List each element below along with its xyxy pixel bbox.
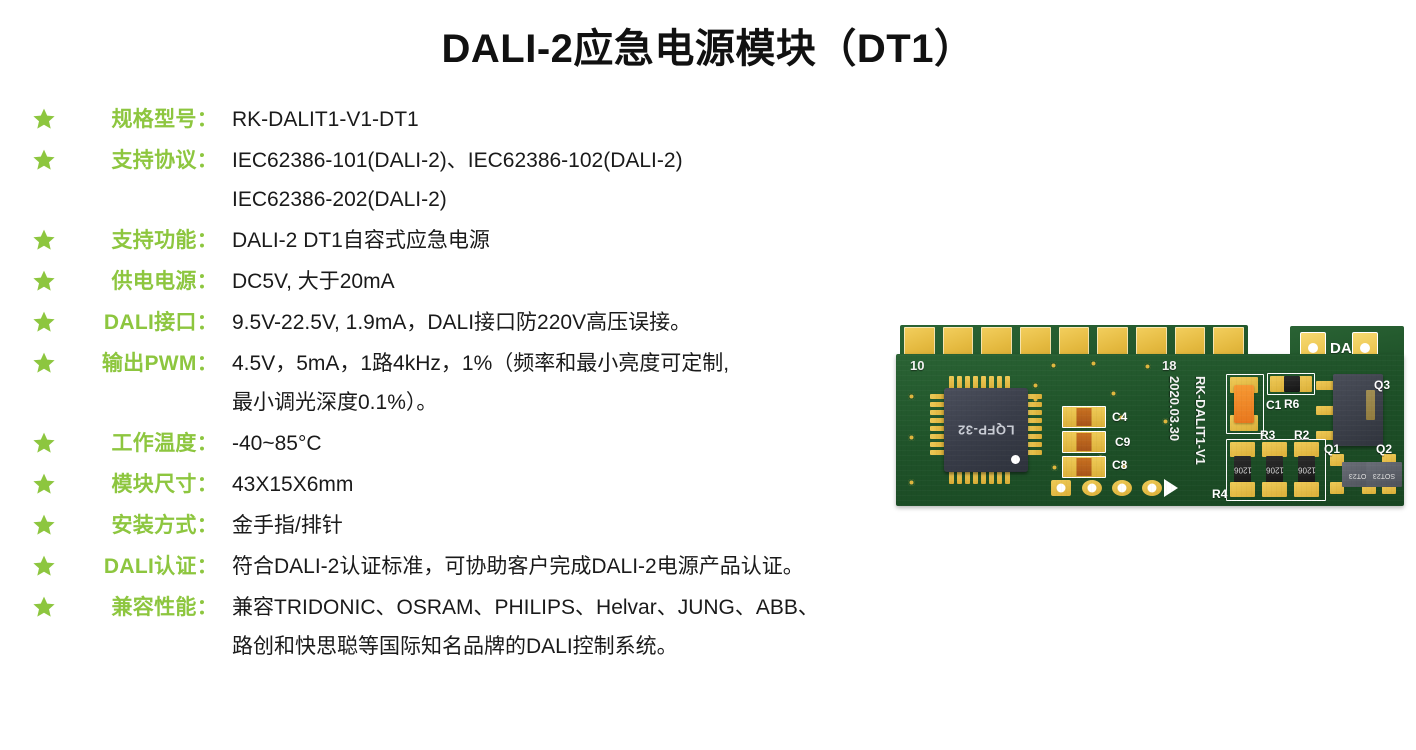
chip-pin [1027,418,1042,423]
chip-pin [1027,434,1042,439]
pad-hole [1360,343,1370,353]
spec-row: 支持功能： DALI-2 DT1自容式应急电源 [26,224,956,258]
component-label-c9: C9 [1115,435,1130,449]
spec-label: 规格型号： [62,103,218,137]
pad-hole [1057,484,1066,493]
pad-hole [1308,343,1318,353]
component-label-q2: Q2 [1376,442,1392,456]
pad-q3-1 [1316,381,1334,390]
spec-label: DALI认证： [62,550,218,584]
spec-row: 规格型号： RK-DALIT1-V1-DT1 [26,103,956,137]
spec-row: 供电电源： DC5V, 大于20mA [26,265,956,299]
spec-value-line: 兼容TRIDONIC、OSRAM、PHILIPS、Helvar、JUNG、ABB… [232,591,956,625]
spec-row: DALI接口： 9.5V-22.5V, 1.9mA，DALI接口防220V高压误… [26,306,956,340]
spec-row: 支持协议： IEC62386-101(DALI-2)、IEC62386-102(… [26,144,956,217]
chip-pin [930,426,945,431]
pad-r3-top [1262,442,1287,457]
chip-pin [1027,402,1042,407]
star-icon [26,347,62,375]
silkscreen-board-name: RK-DALIT1-V1 [1193,376,1208,465]
spec-value: RK-DALIT1-V1-DT1 [218,103,956,137]
spec-value: 43X15X6mm [218,468,956,502]
chip-pin [930,450,945,455]
page-title: DALI-2应急电源模块（DT1） [0,16,1416,74]
spec-label: DALI接口： [62,306,218,340]
via [1090,360,1097,367]
spec-value: IEC62386-101(DALI-2)、IEC62386-102(DALI-2… [218,144,956,217]
capacitor-c1-body [1234,385,1254,423]
spec-row: 工作温度： -40~85°C [26,427,956,461]
spec-value-line: 43X15X6mm [232,468,956,502]
specification-list: 规格型号： RK-DALIT1-V1-DT1 支持协议： IEC62386-10… [26,103,956,671]
chip-pin [1027,450,1042,455]
resistor-r4-body: 1206 [1234,456,1251,484]
chip-pin [1027,410,1042,415]
resistor-r2-body: 1206 [1298,456,1315,484]
pad-hole [1088,484,1097,493]
component-label-r6: R6 [1284,397,1299,411]
spec-value: DC5V, 大于20mA [218,265,956,299]
component-label-r3: R3 [1260,428,1275,442]
star-icon [26,224,62,252]
via [1144,363,1151,370]
chip-pin [1027,394,1042,399]
star-icon [26,591,62,619]
via [1032,382,1039,389]
spec-value-line: 4.5V，5mA，1路4kHz，1%（频率和最小亮度可定制, [232,347,956,381]
spec-label: 供电电源： [62,265,218,299]
via [1050,362,1057,369]
pad-hole [1148,484,1157,493]
spec-label: 工作温度： [62,427,218,461]
capacitor-c8 [1062,456,1106,478]
chip-pin [930,410,945,415]
chip-pin1-dot [1011,455,1020,464]
pad-r3-bottom [1262,482,1287,497]
resistor-code: 1206 [1298,466,1316,475]
chip-marking: LQFP-32 [958,423,1015,438]
pad-hole [1118,484,1127,493]
component-label-c1: C1 [1266,398,1281,412]
via [1110,390,1117,397]
star-icon [26,468,62,496]
spec-value-line: 9.5V-22.5V, 1.9mA，DALI接口防220V高压误接。 [232,306,956,340]
through-hole-pad-4 [1142,480,1162,496]
spec-label: 支持功能： [62,224,218,258]
chip-pin [1027,426,1042,431]
spec-row: 输出PWM： 4.5V，5mA，1路4kHz，1%（频率和最小亮度可定制, 最小… [26,347,956,420]
component-label-r2: R2 [1294,428,1309,442]
spec-row: 安装方式： 金手指/排针 [26,509,956,543]
star-icon [26,509,62,537]
component-label-r4: R4 [1212,487,1227,501]
pad-q3-2 [1316,406,1334,415]
pcb-substrate: 10 18 [896,354,1404,506]
via [908,479,915,486]
through-hole-pad-3 [1112,480,1132,496]
star-icon [26,103,62,131]
star-icon [26,550,62,578]
through-hole-pad-1 [1051,480,1071,496]
star-icon [26,427,62,455]
spec-value-line: 金手指/排针 [232,509,956,543]
spec-value-line: IEC62386-202(DALI-2) [232,183,956,217]
component-label-c4: C4 [1112,410,1127,424]
chip-pin [1027,442,1042,447]
ic-q3-tab [1366,390,1375,420]
spec-value: 符合DALI-2认证标准，可协助客户完成DALI-2电源产品认证。 [218,550,956,584]
spec-value-line: IEC62386-101(DALI-2)、IEC62386-102(DALI-2… [232,144,956,178]
resistor-r6-body [1284,376,1300,392]
chip-pin [930,418,945,423]
star-icon [26,265,62,293]
resistor-r3-body: 1206 [1266,456,1283,484]
product-spec-page: DALI-2应急电源模块（DT1） 规格型号： RK-DALIT1-V1-DT1… [0,0,1416,750]
spec-value-line: 路创和快思聪等国际知名品牌的DALI控制系统。 [232,630,956,664]
pad-r4-bottom [1230,482,1255,497]
spec-label: 模块尺寸： [62,468,218,502]
silkscreen-pin-18: 18 [1162,358,1176,373]
chip-pin [930,434,945,439]
spec-value: -40~85°C [218,427,956,461]
capacitor-c4 [1062,406,1106,428]
spec-label: 输出PWM： [62,347,218,381]
component-label-c8: C8 [1112,458,1127,472]
spec-value-line: DC5V, 大于20mA [232,265,956,299]
spec-value: DALI-2 DT1自容式应急电源 [218,224,956,258]
spec-row: 模块尺寸： 43X15X6mm [26,468,956,502]
lqfp32-chip: LQFP-32 [944,388,1028,472]
pad-r4-top [1230,442,1255,457]
pad-r2-top [1294,442,1319,457]
spec-label: 兼容性能： [62,591,218,625]
silkscreen-pin-10: 10 [910,358,924,373]
spec-value-line: -40~85°C [232,427,956,461]
spec-label: 支持协议： [62,144,218,178]
spec-value: 金手指/排针 [218,509,956,543]
pcb-board-image: DA 10 18 [896,325,1404,520]
spec-value-line: 最小调光深度0.1%）。 [232,386,956,420]
via [908,393,915,400]
pad-r6-left [1270,376,1285,392]
orientation-triangle-marker [1164,479,1178,497]
spec-value: 兼容TRIDONIC、OSRAM、PHILIPS、Helvar、JUNG、ABB… [218,591,956,664]
spec-label: 安装方式： [62,509,218,543]
capacitor-c9 [1062,431,1106,453]
star-icon [26,144,62,172]
via [1051,464,1058,471]
spec-row: 兼容性能： 兼容TRIDONIC、OSRAM、PHILIPS、Helvar、JU… [26,591,956,664]
spec-value-line: DALI-2 DT1自容式应急电源 [232,224,956,258]
star-icon [26,306,62,334]
resistor-code: 1206 [1266,466,1284,475]
chip-pins-left [930,394,945,455]
component-label-q3: Q3 [1374,378,1390,392]
through-hole-pad-2 [1082,480,1102,496]
spec-row: DALI认证： 符合DALI-2认证标准，可协助客户完成DALI-2电源产品认证… [26,550,956,584]
spec-value-line: 符合DALI-2认证标准，可协助客户完成DALI-2电源产品认证。 [232,550,956,584]
silkscreen-board-date: 2020.03.30 [1167,376,1182,441]
resistor-code: 1206 [1234,466,1252,475]
spec-value-line: RK-DALIT1-V1-DT1 [232,103,956,137]
chip-pin [930,402,945,407]
chip-pin [930,442,945,447]
via [908,434,915,441]
spec-value: 4.5V，5mA，1路4kHz，1%（频率和最小亮度可定制, 最小调光深度0.1… [218,347,956,420]
transistor-q2-body: SOT23 [1366,462,1402,487]
transistor-code: SOT23 [1373,471,1395,479]
chip-pins-right [1027,394,1042,455]
pad-r2-bottom [1294,482,1319,497]
component-label-q1: Q1 [1324,442,1340,456]
spec-value: 9.5V-22.5V, 1.9mA，DALI接口防220V高压误接。 [218,306,956,340]
chip-pin [930,394,945,399]
